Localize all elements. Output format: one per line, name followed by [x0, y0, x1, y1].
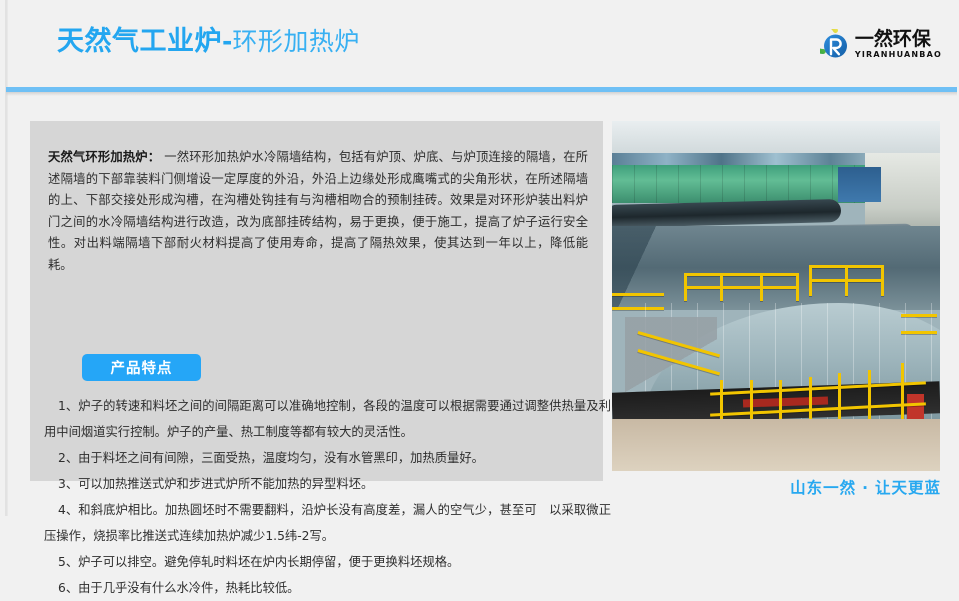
footer-separator-dot: · [856, 479, 875, 497]
photo-railing [901, 363, 904, 419]
feature-list-item-3: 3、可以加热推送式炉和步进式炉所不能加热的异型料坯。 [44, 471, 619, 497]
feature-list: 1、炉子的转速和料坯之间的间隔距离可以准确地控制，各段的温度可以根据需要通过调整… [44, 393, 619, 601]
page-title-main: 天然气工业炉 [57, 26, 222, 57]
furnace-photo-image [612, 121, 940, 471]
feature-list-item-6: 6、由于几乎没有什么水冷件，热耗比较低。 [44, 575, 619, 601]
footer-slogan: 山东一然·让天更蓝 [790, 476, 941, 498]
photo-railing [796, 273, 799, 301]
photo-ground [612, 419, 940, 472]
photo-railing [684, 273, 687, 301]
photo-railing [720, 273, 723, 301]
photo-railing [809, 265, 812, 297]
photo-railing [684, 273, 796, 276]
logo-name-en: YIRANHUANBAO [855, 51, 942, 59]
slide-header: 天然气工业炉-环形加热炉 [0, 0, 959, 88]
logo-text-block: 一然环保 YIRANHUANBAO [855, 30, 942, 59]
header-divider-shadow [6, 92, 957, 96]
company-logo: 一然环保 YIRANHUANBAO [820, 29, 942, 60]
photo-blue-cabinet [838, 167, 881, 202]
page-title-dash: - [222, 27, 232, 56]
photo-red-cabinet [907, 394, 923, 419]
page-title-sub: 环形加热炉 [232, 27, 360, 56]
feature-list-item-2: 2、由于料坯之间有间隙，三面受热，温度均匀，没有水管黑印，加热质量好。 [44, 445, 619, 471]
page-title: 天然气工业炉-环形加热炉 [57, 28, 360, 55]
photo-railing [868, 370, 871, 426]
photo-railing [901, 331, 937, 334]
photo-railing [845, 265, 848, 297]
intro-paragraph: 天然气环形加热炉： 一然环形加热炉水冷隔墙结构，包括有炉顶、炉底、与炉顶连接的隔… [48, 147, 588, 276]
feature-list-item-5: 5、炉子可以排空。避免停轧时料坯在炉内长期停留，便于更换料坯规格。 [44, 549, 619, 575]
furnace-photo [612, 121, 940, 471]
photo-railing [901, 314, 937, 317]
photo-machinery [612, 226, 940, 310]
slide-root: 天然气工业炉-环形加热炉 [0, 0, 959, 516]
photo-railing [760, 273, 763, 301]
photo-railing [881, 265, 884, 297]
feature-list-item-4: 4、和斜底炉相比。加热圆坯时不需要翻料，沿炉长没有高度差，漏人的空气少，甚至可 … [44, 497, 619, 549]
intro-body: 一然环形加热炉水冷隔墙结构，包括有炉顶、炉底、与炉顶连接的隔墙，在所述隔墙的下部… [48, 150, 588, 272]
photo-railing [612, 293, 664, 296]
feature-list-item-1: 1、炉子的转速和料坯之间的间隔距离可以准确地控制，各段的温度可以根据需要通过调整… [44, 393, 619, 445]
logo-circle-icon [820, 29, 851, 60]
photo-sky [612, 121, 940, 156]
footer-slogan-left: 山东一然 [790, 479, 856, 497]
content-panel: 天然气环形加热炉： 一然环形加热炉水冷隔墙结构，包括有炉顶、炉底、与炉顶连接的隔… [30, 121, 603, 481]
footer-slogan-right: 让天更蓝 [875, 479, 941, 497]
logo-name-cn: 一然环保 [855, 30, 942, 49]
product-features-button[interactable]: 产品特点 [82, 354, 201, 381]
intro-label: 天然气环形加热炉： [48, 150, 160, 164]
photo-railing [684, 286, 796, 289]
